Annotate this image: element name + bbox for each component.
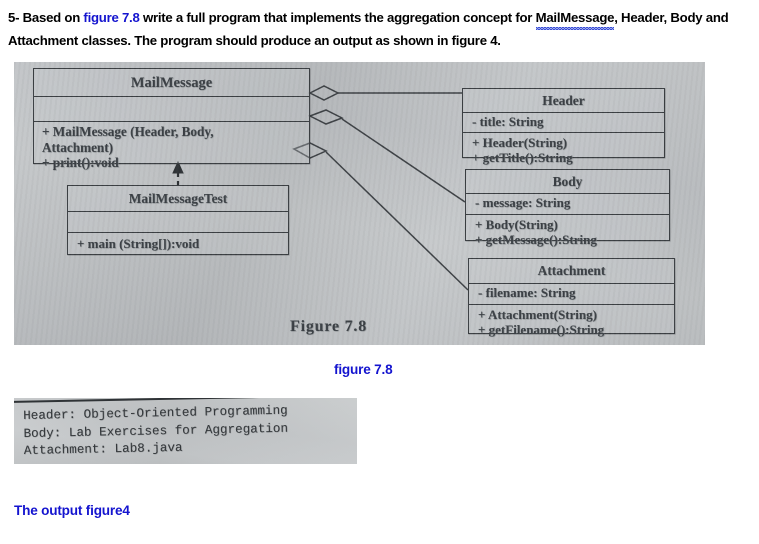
uml-class-name-header: Header xyxy=(463,93,664,109)
aggregation-diamond-header xyxy=(310,86,338,100)
uml-figure-caption: figure 7.8 xyxy=(334,362,392,377)
uml-operations-body: + Body(String) + getMessage():String xyxy=(475,217,597,247)
uml-class-diagram-image: MailMessage + MailMessage (Header, Body,… xyxy=(14,62,705,345)
console-output-image: Header: Object-Oriented Programming Body… xyxy=(14,398,357,464)
uml-divider xyxy=(463,112,664,113)
uml-class-name-mailmessagetest: MailMessageTest xyxy=(68,191,288,207)
scan-edge-line xyxy=(14,398,357,403)
uml-class-attachment: Attachment - filename: String + Attachme… xyxy=(468,258,675,334)
uml-divider xyxy=(463,132,664,133)
console-output-text: Header: Object-Oriented Programming Body… xyxy=(23,403,289,461)
uml-divider xyxy=(466,193,669,194)
uml-operations-header: + Header(String) + getTitle():String xyxy=(472,135,573,165)
uml-class-header: Header - title: String + Header(String) … xyxy=(462,88,665,158)
uml-divider xyxy=(469,304,674,305)
uml-divider xyxy=(34,96,309,97)
uml-divider xyxy=(34,121,309,122)
uml-attributes-header: - title: String xyxy=(472,114,543,129)
uml-class-name-body: Body xyxy=(466,174,669,190)
uml-operations-mailmessagetest: + main (String[]):void xyxy=(77,236,199,251)
uml-divider xyxy=(68,232,288,233)
question-middle: write a full program that implements the… xyxy=(140,10,536,25)
misspelled-term: MailMessage xyxy=(536,6,615,29)
uml-divider xyxy=(469,283,674,284)
uml-class-body: Body - message: String + Body(String) + … xyxy=(465,169,670,241)
uml-figure-inner-caption: Figure 7.8 xyxy=(290,318,367,336)
uml-operations-mailmessage: + MailMessage (Header, Body, Attachment)… xyxy=(42,124,214,171)
uml-attributes-attachment: - filename: String xyxy=(478,285,575,300)
uml-class-mailmessage: MailMessage + MailMessage (Header, Body,… xyxy=(33,68,310,164)
aggregation-diamond-body xyxy=(310,110,342,124)
uml-attributes-body: - message: String xyxy=(475,195,570,210)
figure-reference-link[interactable]: figure 7.8 xyxy=(83,10,139,25)
uml-class-name-attachment: Attachment xyxy=(469,263,674,279)
uml-class-name-mailmessage: MailMessage xyxy=(34,75,309,92)
uml-class-mailmessagetest: MailMessageTest + main (String[]):void xyxy=(67,185,289,255)
uml-operations-attachment: + Attachment(String) + getFilename():Str… xyxy=(478,307,604,337)
aggregation-line-body xyxy=(342,119,465,202)
output-figure-caption: The output figure4 xyxy=(14,503,130,518)
uml-divider xyxy=(68,211,288,212)
question-prefix: 5- Based on xyxy=(8,10,83,25)
uml-divider xyxy=(466,214,669,215)
question-text: 5- Based on figure 7.8 write a full prog… xyxy=(8,6,750,52)
aggregation-line-attachment xyxy=(326,152,468,290)
